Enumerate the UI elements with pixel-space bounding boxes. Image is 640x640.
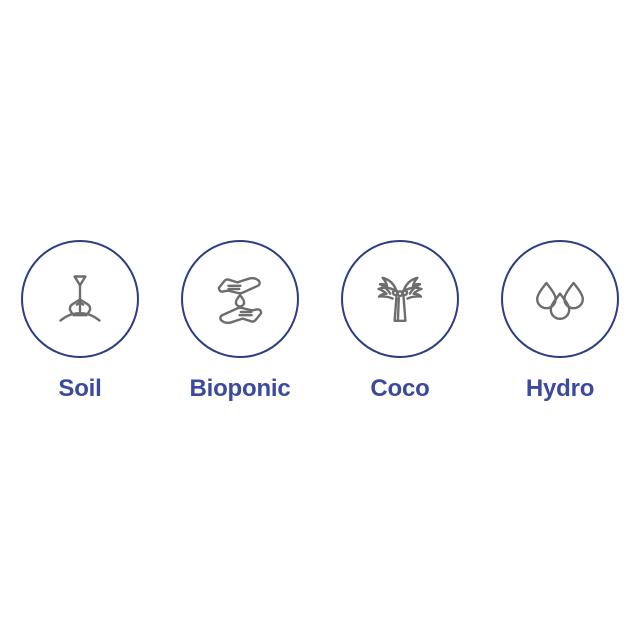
three-water-drops-icon — [529, 268, 591, 330]
growing-medium-option-row: Soil Bioponic — [0, 240, 640, 420]
option-coco-icon-circle[interactable] — [341, 240, 459, 358]
option-soil-label: Soil — [58, 375, 101, 403]
option-bioponic[interactable]: Bioponic — [160, 240, 320, 403]
option-bioponic-label: Bioponic — [189, 375, 290, 403]
option-hydro-label: Hydro — [526, 375, 594, 403]
two-hands-with-water-drop-icon — [209, 268, 271, 330]
option-coco[interactable]: Coco — [320, 240, 480, 403]
growing-medium-selector: Soil Bioponic — [0, 0, 640, 640]
option-hydro-icon-circle[interactable] — [501, 240, 619, 358]
palm-tree-icon — [369, 268, 431, 330]
option-coco-label: Coco — [370, 375, 429, 403]
option-soil[interactable]: Soil — [0, 240, 160, 403]
option-soil-icon-circle[interactable] — [21, 240, 139, 358]
option-hydro[interactable]: Hydro — [480, 240, 640, 403]
shovel-in-ground-icon — [49, 268, 111, 330]
option-bioponic-icon-circle[interactable] — [181, 240, 299, 358]
